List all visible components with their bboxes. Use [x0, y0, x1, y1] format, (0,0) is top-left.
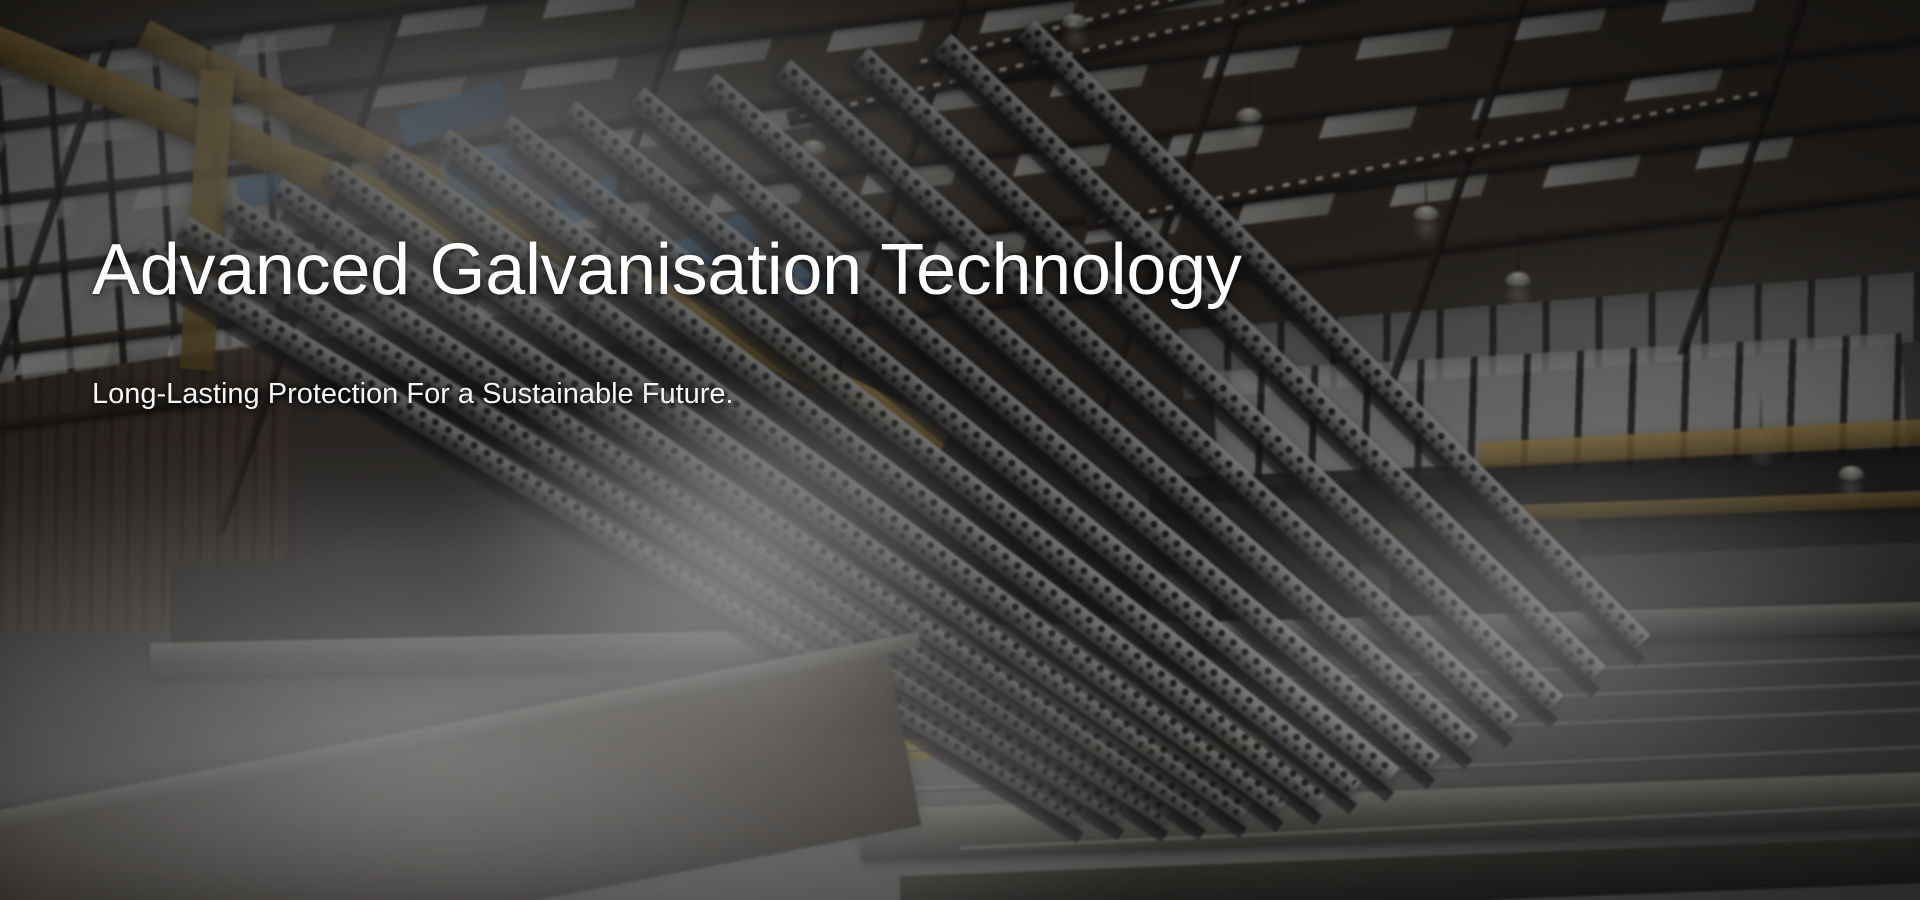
steam-plume-right [1250, 440, 1890, 770]
hero-background-photo [0, 0, 1920, 900]
hero-content: Advanced Galvanisation Technology Long-L… [92, 232, 1242, 412]
hero-banner: Advanced Galvanisation Technology Long-L… [0, 0, 1920, 900]
pendant-lamp [1062, 14, 1088, 28]
hero-subtitle: Long-Lasting Protection For a Sustainabl… [92, 310, 1242, 412]
pendant-lamp [1505, 272, 1531, 286]
steam-plume-centre [420, 400, 1040, 700]
hero-title: Advanced Galvanisation Technology [92, 232, 1242, 310]
